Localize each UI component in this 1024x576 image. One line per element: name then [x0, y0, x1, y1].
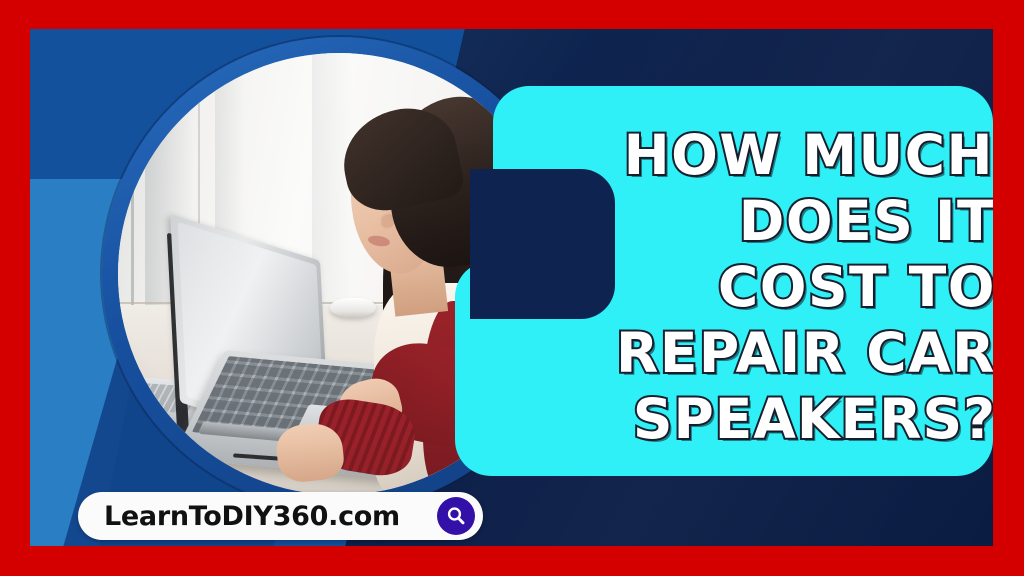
search-icon[interactable] [437, 497, 475, 535]
headline-line-4: REPAIR CAR [616, 320, 993, 386]
headline-line-3: COST TO [718, 254, 993, 320]
headline-text-block: HOW MUCH DOES IT COST TO REPAIR CAR SPEA… [470, 91, 993, 483]
headline-line-1: HOW MUCH [624, 122, 993, 188]
headline-line-5: SPEAKERS? [633, 386, 993, 452]
youtube-thumbnail: HOW MUCH DOES IT COST TO REPAIR CAR SPEA… [0, 0, 1024, 576]
branding-pill[interactable]: LearnToDIY360.com [78, 492, 483, 540]
headline-line-2: DOES IT [739, 188, 993, 254]
site-name-label: LearnToDIY360.com [104, 501, 400, 532]
thumbnail-inner-canvas: HOW MUCH DOES IT COST TO REPAIR CAR SPEA… [30, 29, 993, 546]
